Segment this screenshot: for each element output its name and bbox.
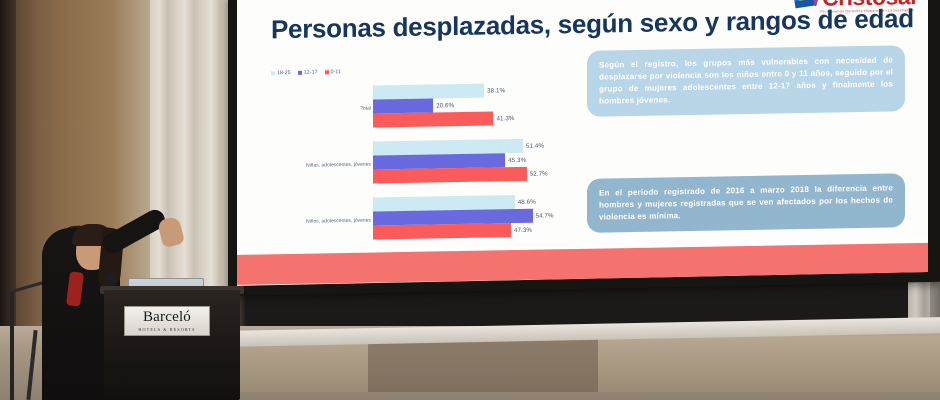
chart-bars: 51.4%45.3%52.7% [373,138,593,184]
chart-category-label: Niñas, adolescentes, jóvenes [306,162,371,169]
chart-bar-value: 47.3% [514,226,532,233]
room-background: Cristosal Promoviendo Derechos Humanos e… [0,0,940,400]
podium-sign: Barceló HOTELS & RESORTS [124,306,210,336]
chart-bar-value: 20.6% [436,102,454,109]
chart-bar-value: 38.1% [487,87,505,94]
chart-bar-value: 52.7% [530,170,548,177]
chart-bars: 38.1%20.6%41.3% [373,82,593,128]
legend-label: 12-17 [304,70,318,76]
chart-bar-value: 51.4% [526,142,544,149]
callout-box-1: Según el registro, los grupos más vulner… [587,45,905,116]
podium-brand-name: Barceló [143,310,191,325]
slide-title: Personas desplazadas, según sexo y rango… [271,3,914,45]
callout-box-2: En el periodo registrado de 2016 a marzo… [587,173,905,232]
chart-bar [373,223,511,239]
chart-bar [373,111,493,127]
presentation-slide: Cristosal Promoviendo Derechos Humanos e… [237,0,928,286]
podium-brand-tagline: HOTELS & RESORTS [138,327,195,332]
chart-legend: 18-2512-170-11 [271,69,341,76]
legend-swatch-icon [271,71,275,75]
legend-item-18-25: 18-25 [271,70,291,76]
wall-panel [368,336,598,392]
chart-groups: Total38.1%20.6%41.3%Niñas, adolescentes,… [263,79,593,253]
chart-bars: 48.6%54.7%47.3% [373,194,593,240]
projection-screen: Cristosal Promoviendo Derechos Humanos e… [228,0,940,296]
legend-label: 18-25 [277,70,291,76]
chart-bar-value: 48.6% [518,198,536,205]
chart-category-label: Niños, adolescentes, jóvenes [306,218,371,225]
chart-bar [373,98,433,113]
bar-chart: 18-2512-170-11 Total38.1%20.6%41.3%Niñas… [263,65,593,246]
legend-item-12-17: 12-17 [298,70,318,76]
legend-swatch-icon [325,70,329,74]
chart-group: Niñas, adolescentes, jóvenes51.4%45.3%52… [263,135,593,193]
chart-group: Niños, adolescentes, jóvenes48.6%54.7%47… [263,191,593,249]
legend-swatch-icon [298,71,302,75]
chart-bar-value: 41.3% [496,115,514,122]
legend-label: 0-11 [331,69,341,75]
chart-bar-value: 54.7% [536,212,554,219]
chart-bar-row: 47.3% [373,222,593,240]
chart-bar [373,167,527,184]
chart-bar-value: 45.3% [508,156,526,163]
chart-category-label: Total [360,106,371,112]
legend-item-0-11: 0-11 [325,69,341,75]
chart-bar-row: 41.3% [373,110,593,128]
chart-bar-row: 52.7% [373,166,593,184]
microphone-head-icon [104,272,117,285]
chart-group: Total38.1%20.6%41.3% [263,79,593,137]
microphone-stand [10,292,14,400]
